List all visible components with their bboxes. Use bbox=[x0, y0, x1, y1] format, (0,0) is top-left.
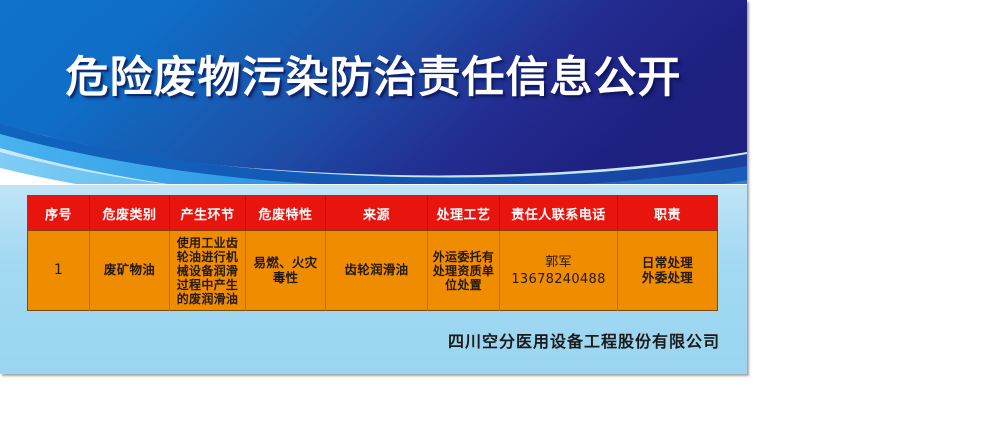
column-header-duty: 职责 bbox=[618, 196, 718, 231]
cell-duty: 日常处理 外委处理 bbox=[618, 231, 718, 311]
cell-contact: 郭军 13678240488 bbox=[500, 231, 618, 311]
header-banner: 危险废物污染防治责任信息公开 bbox=[0, 0, 747, 185]
table-header-row: 序号 危废类别 产生环节 危废特性 来源 处理工艺 责任人联系电话 职责 bbox=[28, 196, 718, 231]
cell-sequence: 1 bbox=[28, 231, 90, 311]
information-disclosure-poster: 危险废物污染防治责任信息公开 序号 危废类别 产生环节 危废特性 来源 处理工艺… bbox=[0, 0, 747, 374]
column-header-process: 处理工艺 bbox=[428, 196, 500, 231]
column-header-stage: 产生环节 bbox=[170, 196, 246, 231]
column-header-sequence: 序号 bbox=[28, 196, 90, 231]
column-header-category: 危废类别 bbox=[90, 196, 170, 231]
table-row: 1 废矿物油 使用工业齿轮油进行机械设备润滑过程中产生的废润滑油 易燃、火灾毒性… bbox=[28, 231, 718, 311]
column-header-properties: 危废特性 bbox=[246, 196, 326, 231]
cell-source: 齿轮润滑油 bbox=[326, 231, 428, 311]
column-header-contact: 责任人联系电话 bbox=[500, 196, 618, 231]
column-header-source: 来源 bbox=[326, 196, 428, 231]
cell-category: 废矿物油 bbox=[90, 231, 170, 311]
cell-properties: 易燃、火灾毒性 bbox=[246, 231, 326, 311]
cell-process: 外运委托有处理资质单位处置 bbox=[428, 231, 500, 311]
cell-stage: 使用工业齿轮油进行机械设备润滑过程中产生的废润滑油 bbox=[170, 231, 246, 311]
company-name: 四川空分医用设备工程股份有限公司 bbox=[0, 328, 720, 352]
hazardous-waste-table: 序号 危废类别 产生环节 危废特性 来源 处理工艺 责任人联系电话 职责 1 废… bbox=[27, 195, 718, 311]
page-title: 危险废物污染防治责任信息公开 bbox=[0, 50, 747, 106]
